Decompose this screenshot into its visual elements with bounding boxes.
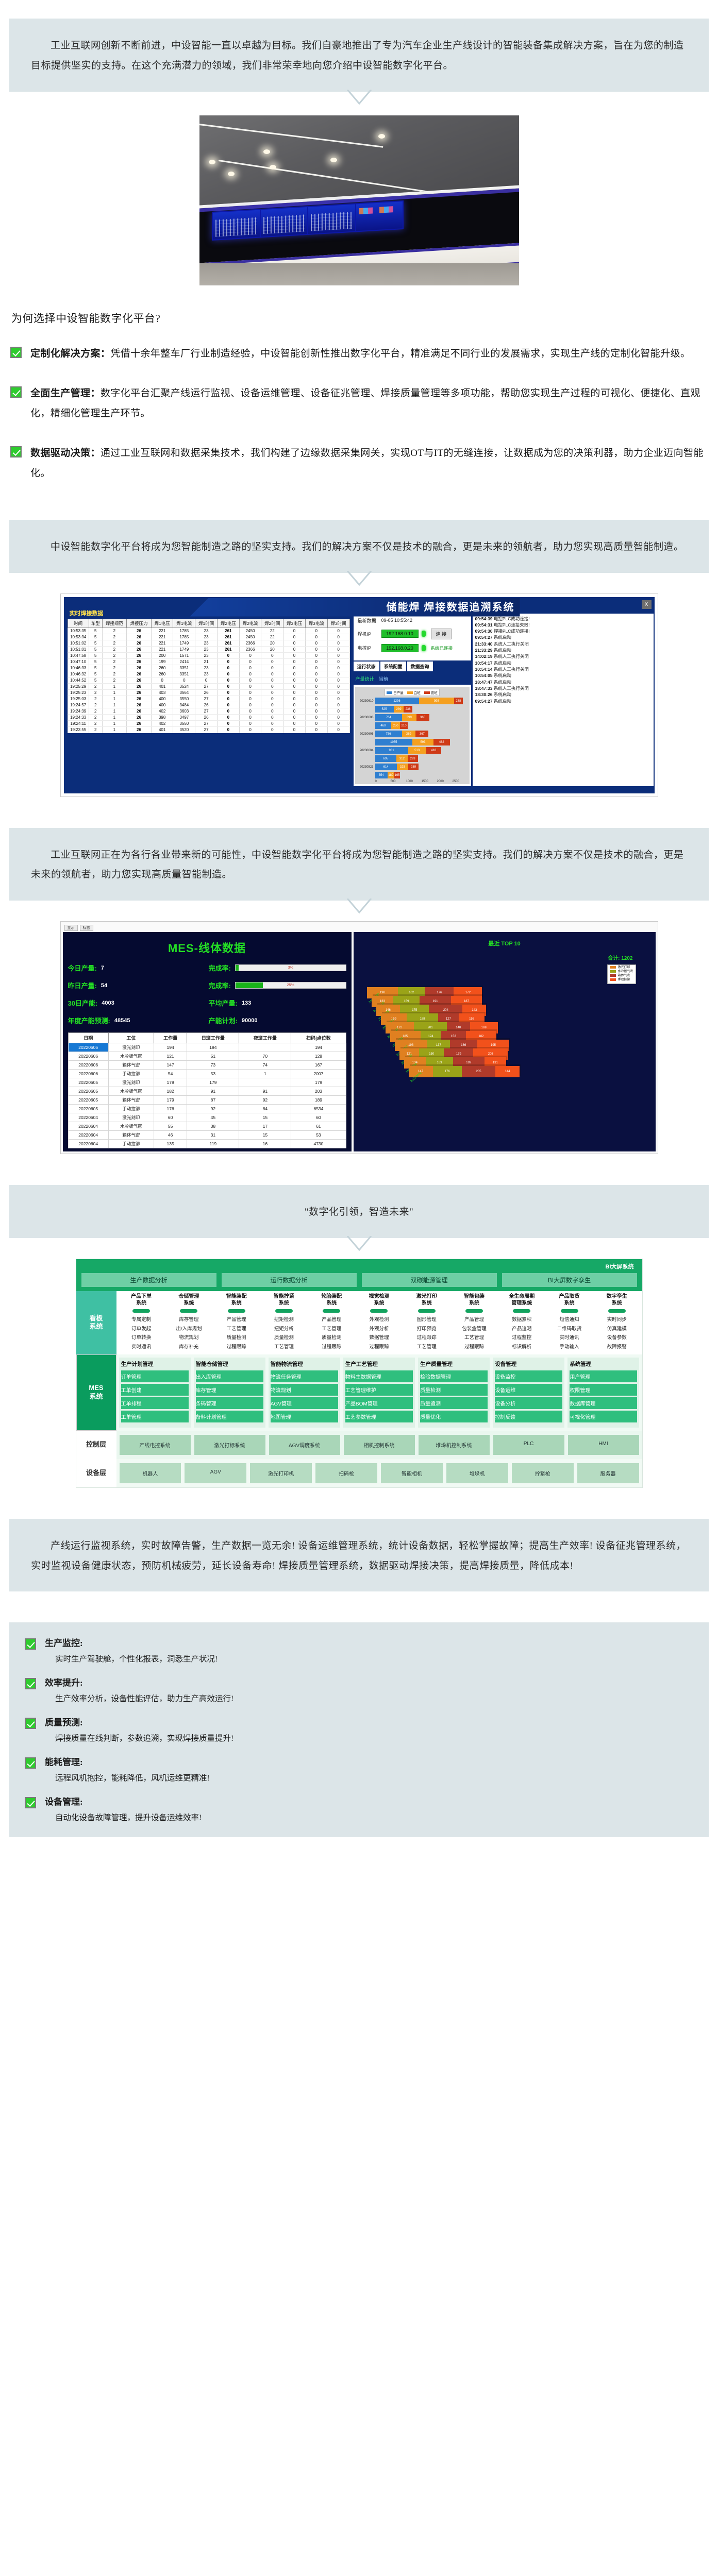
table-cell: 0 bbox=[217, 665, 239, 671]
slogan-block: "数字化引领，智造未来" bbox=[9, 1185, 709, 1238]
table-cell: 3351 bbox=[173, 665, 195, 671]
table-cell: 2366 bbox=[239, 640, 261, 646]
mes-card-item[interactable]: 产品BOM管理 bbox=[345, 1397, 413, 1409]
table-cell: 91 bbox=[187, 1087, 239, 1096]
table-cell: 70 bbox=[239, 1052, 291, 1061]
axis-tick: 0 bbox=[375, 780, 391, 783]
table-row[interactable]: 10:51:025226221174923261236620000 bbox=[68, 640, 349, 646]
bi-chip[interactable]: 双碳能源管理 bbox=[362, 1273, 497, 1287]
table-cell: 0 bbox=[217, 652, 239, 658]
pill-icon bbox=[418, 1309, 436, 1313]
table-row[interactable]: 20220606箱体气密1477374167 bbox=[68, 1061, 346, 1070]
table-cell: 0 bbox=[217, 683, 239, 689]
welding-right-body: 最新数据 09-05 10:55:42 焊机IP 192.168.0.10 连 … bbox=[353, 613, 655, 787]
table-cell: 0 bbox=[327, 671, 349, 677]
bi-chip[interactable]: BI大屏数字孪生 bbox=[502, 1273, 637, 1287]
check-icon bbox=[25, 1797, 36, 1808]
mes-card-item[interactable]: 出入库管理 bbox=[196, 1370, 263, 1382]
column-item: 外观分析 bbox=[356, 1325, 402, 1334]
table-cell: 5 bbox=[89, 634, 102, 640]
kanban-row-label: 看板 系统 bbox=[76, 1291, 116, 1354]
table-cell: 203 bbox=[291, 1087, 346, 1096]
table-row[interactable]: 10:44:525226000000000 bbox=[68, 677, 349, 683]
column-item: 工艺管理 bbox=[404, 1343, 449, 1352]
bar-segment: 365 bbox=[416, 714, 429, 721]
table-cell: 0 bbox=[305, 708, 327, 714]
top10-legend: 激光打印水冷板气密箱体气密手动拉铆 bbox=[607, 964, 636, 984]
table-cell: 2 bbox=[102, 665, 127, 671]
table-cell: 0 bbox=[283, 714, 306, 720]
table-cell: 0 bbox=[327, 665, 349, 671]
table-cell: 119 bbox=[187, 1140, 239, 1148]
device-item[interactable]: 扫码枪 bbox=[315, 1463, 377, 1483]
legend-item: 水冷板气密 bbox=[610, 970, 633, 974]
mes-data-table[interactable]: 日期 工位 工作量 日班工作量 夜班工作量 扫码|点位数 20220606激光刻… bbox=[68, 1032, 346, 1148]
bar-segment: 998 bbox=[419, 698, 455, 704]
table-cell: 260 bbox=[151, 671, 173, 677]
bar-segment: 238 bbox=[454, 698, 462, 704]
device-item[interactable]: AGV bbox=[185, 1463, 246, 1483]
mes-card: 生产计划管理订单管理工单创建工单排程工单管理 bbox=[119, 1358, 191, 1428]
welding-table-body: 10:53:35522622117852326124502200010:53:3… bbox=[68, 628, 349, 733]
legend-item: 箱体气密 bbox=[610, 974, 633, 978]
bi-chip[interactable]: 运行数据分析 bbox=[222, 1273, 357, 1287]
spacer bbox=[0, 1488, 718, 1519]
table-cell: 19:24:39 bbox=[68, 708, 89, 714]
column-title: 智能包装系统 bbox=[451, 1294, 497, 1307]
welder-ip-field[interactable]: 192.168.0.10 bbox=[381, 630, 419, 638]
metric-label: 平均产量: bbox=[209, 998, 238, 1008]
bar-segment: 289 bbox=[408, 764, 419, 770]
log-line: 21:33:29 系统启动 bbox=[475, 647, 651, 653]
table-row[interactable]: 20220604手动拉铆135119164730 bbox=[68, 1140, 346, 1148]
table-cell: 23 bbox=[195, 634, 218, 640]
kanban-column: 产品下单系统专属定制订单发起订单转换实时通讯 bbox=[119, 1294, 164, 1351]
table-cell: 3550 bbox=[173, 720, 195, 726]
display-panel bbox=[261, 207, 308, 236]
page-root: 工业互联网创新不断前进，中设智能一直以卓越为目标。我们自豪地推出了专为汽车企业生… bbox=[0, 0, 718, 1868]
table-cell: 0 bbox=[327, 702, 349, 708]
table-cell: 23 bbox=[195, 640, 218, 646]
table-cell: 74 bbox=[239, 1061, 291, 1070]
spacer bbox=[0, 1591, 718, 1622]
mes-card-title: 生产工艺管理 bbox=[345, 1360, 413, 1368]
table-cell: 179 bbox=[187, 1078, 239, 1087]
table-cell: 0 bbox=[327, 683, 349, 689]
welding-data-table[interactable]: 时间 车型 焊接规范 焊接压力 焊1电压 焊1电流 焊1时间 焊2电压 焊2电流… bbox=[68, 619, 350, 733]
mes-card-item[interactable]: 质量优化 bbox=[420, 1411, 488, 1422]
mes-card-item[interactable]: 数据库管理 bbox=[570, 1397, 637, 1409]
table-cell: 10:46:33 bbox=[68, 665, 89, 671]
table-cell: 19:25:23 bbox=[68, 689, 89, 696]
bullet-text: 数据驱动决策：通过工业互联网和数据采集技术，我们构建了边缘数据采集网关，实现OT… bbox=[30, 444, 708, 484]
table-row[interactable]: 19:24:112126402355027000000 bbox=[68, 720, 349, 726]
table-row[interactable]: 10:46:325226260335123000000 bbox=[68, 671, 349, 677]
table-cell: 2 bbox=[89, 683, 102, 689]
table-cell: 23 bbox=[195, 646, 218, 652]
chart-bar-row: 605312293 bbox=[357, 755, 468, 762]
table-cell: 2007 bbox=[291, 1070, 346, 1078]
table-cell: 2450 bbox=[239, 634, 261, 640]
log-line: 10:54:17 系统启动 bbox=[475, 660, 651, 666]
table-row[interactable]: 20220606水冷板气密1215170128 bbox=[68, 1052, 346, 1061]
table-cell: 5 bbox=[89, 640, 102, 646]
kanban-column: 全生命周期管理系统数据累积产品追溯过程监控标识解析 bbox=[499, 1294, 545, 1351]
table-cell: 27 bbox=[195, 726, 218, 733]
bar-segment: 189 bbox=[388, 772, 394, 778]
table-cell: 3520 bbox=[173, 726, 195, 733]
mes-card-item[interactable]: 设备运维 bbox=[495, 1384, 562, 1396]
mes-row-label: MES 系统 bbox=[76, 1354, 116, 1431]
col-header: 焊接压力 bbox=[127, 619, 152, 628]
table-row[interactable]: 19:25:232126403356426000000 bbox=[68, 689, 349, 696]
table-cell: 1 bbox=[239, 1070, 291, 1078]
feature-desc: 生产效率分析，设备性能评估，助力生产高效运行! bbox=[45, 1692, 233, 1706]
architecture-diagram: BI大屏系统 生产数据分析运行数据分析双碳能源管理BI大屏数字孪生 看板 系统 … bbox=[76, 1259, 643, 1487]
feature-desc: 实时生产驾驶舱，个性化报表，洞悉生产状况! bbox=[45, 1652, 218, 1666]
device-item[interactable]: 堆垛机 bbox=[446, 1463, 508, 1483]
check-icon bbox=[10, 446, 22, 457]
feature-item: 设备管理:自动化设备故障管理，提升设备运维效率! bbox=[25, 1794, 691, 1825]
metric-value: 7 bbox=[101, 965, 104, 971]
table-cell: 0 bbox=[217, 726, 239, 733]
table-cell: 0 bbox=[327, 634, 349, 640]
table-row[interactable]: 10:47:105226199241421000000 bbox=[68, 658, 349, 665]
table-cell: 0 bbox=[283, 720, 306, 726]
check-icon bbox=[25, 1757, 36, 1769]
table-row[interactable]: 20220604激光刻印60451560 bbox=[68, 1113, 346, 1122]
log-line: 09:54:30 焊接PLC成功连接! bbox=[475, 628, 651, 634]
table-cell: 4730 bbox=[291, 1140, 346, 1148]
control-item-row: 产线电控系统激光打标系统AGV调度系统相机控制系统堆垛机控制系统PLCHMI bbox=[116, 1431, 642, 1459]
table-cell: 0 bbox=[305, 720, 327, 726]
mes-card-item[interactable]: 条码管理 bbox=[196, 1397, 263, 1409]
welder-ip-row: 焊机IP 192.168.0.10 连 接 bbox=[358, 629, 467, 639]
metric-value: 90000 bbox=[242, 1018, 258, 1024]
mes-card-item[interactable]: 物流任务管理 bbox=[271, 1370, 338, 1382]
legend-item: 白班 bbox=[407, 690, 421, 695]
table-cell: 27 bbox=[195, 720, 218, 726]
mes-metrics-grid: 今日产量:7完成率:3%昨日产量:54完成率:25%30日产能:4003平均产量… bbox=[68, 963, 346, 1025]
top10-3d-bars: 1901621761722022052713315919118720220528… bbox=[354, 987, 656, 1084]
log-line: 18:30:26 系统启动 bbox=[475, 691, 651, 698]
column-item: 故障报警 bbox=[594, 1343, 640, 1352]
table-cell: 20 bbox=[261, 646, 283, 652]
column-item: 扭矩检测 bbox=[261, 1315, 307, 1325]
table-cell: 1 bbox=[102, 714, 127, 720]
table-row[interactable]: 19:24:332126398349726000000 bbox=[68, 714, 349, 720]
mes-card-item[interactable]: 订单管理 bbox=[121, 1370, 189, 1382]
table-cell: 261 bbox=[217, 634, 239, 640]
mes-left-pane: MES-线体数据 今日产量:7完成率:3%昨日产量:54完成率:25%30日产能… bbox=[63, 932, 352, 1151]
feature-desc: 焊接质量在线判断，参数追溯，实现焊接质量提升! bbox=[45, 1732, 233, 1745]
mes-card-item[interactable]: 物料主数据管理 bbox=[345, 1370, 413, 1382]
plc-ip-row: 电控IP 192.168.0.20 系统已连接 bbox=[358, 644, 467, 652]
table-cell: 179 bbox=[154, 1096, 187, 1105]
table-cell: 10:47:10 bbox=[68, 658, 89, 665]
mes-card-item[interactable]: 设备监控 bbox=[495, 1370, 562, 1382]
column-item: 打印预览 bbox=[404, 1325, 449, 1334]
table-row[interactable]: 10:53:355226221178523261245022000 bbox=[68, 628, 349, 634]
production-bar-chart: 日产量白班夜班 20230610123699823852528923620230… bbox=[355, 687, 470, 784]
column-item: 数据管理 bbox=[356, 1333, 402, 1343]
kanban-column: 轮胎装配系统产品管理工艺管理质量检测过程跟踪 bbox=[309, 1294, 355, 1351]
table-cell: 10:44:52 bbox=[68, 677, 89, 683]
table-row[interactable]: 19:25:032126400355027000000 bbox=[68, 696, 349, 702]
table-row[interactable]: 10:47:585226200157123000000 bbox=[68, 652, 349, 658]
table-cell: 22 bbox=[261, 628, 283, 634]
table-cell: 0 bbox=[261, 665, 283, 671]
mes-card-item[interactable]: 备料计划管理 bbox=[196, 1411, 263, 1422]
device-item[interactable]: 拧紧枪 bbox=[512, 1463, 574, 1483]
bar-category-label: 20230608 bbox=[357, 716, 375, 719]
mes-card-item[interactable]: 质量检测 bbox=[420, 1384, 488, 1396]
table-cell: 1749 bbox=[173, 646, 195, 652]
table-cell: 0 bbox=[195, 677, 218, 683]
table-cell: 0 bbox=[283, 640, 306, 646]
tab-run-status[interactable]: 运行状态 bbox=[354, 662, 379, 671]
bullet-text: 定制化解决方案：凭借十余年整车厂行业制造经验，中设智能创新性推出数字化平台，精准… bbox=[30, 344, 690, 364]
device-item[interactable]: 激光打印机 bbox=[250, 1463, 312, 1483]
bar-category-label: 20230523 bbox=[357, 766, 375, 769]
table-cell: 15 bbox=[239, 1131, 291, 1140]
mes-card-item[interactable]: 库存管理 bbox=[196, 1384, 263, 1396]
table-cell: 0 bbox=[305, 702, 327, 708]
table-cell: 0 bbox=[305, 665, 327, 671]
bar-segment: 593 bbox=[412, 739, 433, 745]
table-cell: 0 bbox=[239, 683, 261, 689]
mes-card-item[interactable]: 控制反馈 bbox=[495, 1411, 562, 1422]
mes-card-item[interactable]: 工单排程 bbox=[121, 1397, 189, 1409]
legend-item: 手动拉铆 bbox=[610, 978, 633, 982]
table-cell: 261 bbox=[217, 628, 239, 634]
column-item: 工艺管理 bbox=[451, 1333, 497, 1343]
log-line: 09:54:31 电控PLC连接失败! bbox=[475, 622, 651, 628]
bar-segment: 931 bbox=[375, 747, 408, 754]
column-item: 短信通知 bbox=[546, 1315, 592, 1325]
table-row[interactable]: 10:53:345226221178523261245022000 bbox=[68, 634, 349, 640]
mes-card-item[interactable]: 工艺参数管理 bbox=[345, 1411, 413, 1422]
table-cell: 200 bbox=[151, 652, 173, 658]
column-title: 轮胎装配系统 bbox=[309, 1294, 355, 1307]
control-row: 控制层 产线电控系统激光打标系统AGV调度系统相机控制系统堆垛机控制系统PLCH… bbox=[76, 1431, 642, 1459]
bar-segment: 399 bbox=[402, 714, 416, 721]
control-item[interactable]: 相机控制系统 bbox=[344, 1435, 415, 1455]
table-cell: 0 bbox=[305, 628, 327, 634]
table-cell: 2 bbox=[89, 702, 102, 708]
why-heading: 为何选择中设智能数字化平台? bbox=[0, 285, 718, 326]
table-cell: 0 bbox=[327, 628, 349, 634]
bar-segment: 354 bbox=[375, 772, 388, 778]
control-item[interactable]: HMI bbox=[568, 1435, 639, 1455]
bar-segment: 605 bbox=[375, 755, 397, 762]
table-cell: 20220606 bbox=[68, 1061, 108, 1070]
iso-bar-segment: 176 bbox=[433, 1066, 462, 1077]
tab-data-query[interactable]: 数据查询 bbox=[407, 662, 433, 671]
table-cell: 23 bbox=[195, 671, 218, 677]
table-cell: 19:24:57 bbox=[68, 702, 89, 708]
mes-card-title: 生产质量管理 bbox=[420, 1360, 488, 1368]
table-cell: 0 bbox=[327, 646, 349, 652]
table-cell: 0 bbox=[239, 665, 261, 671]
mes-card-item[interactable]: 工单创建 bbox=[121, 1384, 189, 1396]
table-row[interactable]: 19:25:292126401352427000000 bbox=[68, 683, 349, 689]
mes-metric: 今日产量:7 bbox=[68, 963, 206, 973]
table-cell: 1785 bbox=[173, 634, 195, 640]
pill-icon bbox=[561, 1309, 578, 1313]
control-item[interactable]: AGV调度系统 bbox=[269, 1435, 340, 1455]
column-title: 全生命周期管理系统 bbox=[499, 1294, 545, 1307]
column-item: 产品管理 bbox=[213, 1315, 259, 1325]
mes-card-item[interactable]: 地图管理 bbox=[271, 1411, 338, 1422]
bi-chip[interactable]: 生产数据分析 bbox=[81, 1273, 216, 1287]
table-cell: 91 bbox=[239, 1087, 291, 1096]
mes-card-item[interactable]: 权限管理 bbox=[570, 1384, 637, 1396]
table-cell: 20220606 bbox=[68, 1070, 108, 1078]
table-row[interactable]: 20220604水冷板气密55381761 bbox=[68, 1122, 346, 1131]
table-row[interactable]: 19:24:392126402360327000000 bbox=[68, 708, 349, 714]
table-cell: 2 bbox=[89, 726, 102, 733]
mes-screenshot-wrap: 显示 标志 MES-线体数据 今日产量:7完成率:3%昨日产量:54完成率:25… bbox=[0, 901, 718, 1154]
mes-body: MES-线体数据 今日产量:7完成率:3%昨日产量:54完成率:25%30日产能… bbox=[63, 932, 656, 1151]
col-header: 日期 bbox=[68, 1033, 108, 1043]
table-cell: 0 bbox=[239, 708, 261, 714]
table-row[interactable]: 20220605激光刻印179179179 bbox=[68, 1078, 346, 1087]
table-row[interactable]: 19:24:572126400348426000000 bbox=[68, 702, 349, 708]
control-item[interactable]: 产线电控系统 bbox=[120, 1435, 191, 1455]
control-item[interactable]: PLC bbox=[493, 1435, 564, 1455]
column-item: 过程监控 bbox=[499, 1333, 545, 1343]
mes-card-item[interactable]: AGV管理 bbox=[271, 1397, 338, 1409]
column-item: 标识解析 bbox=[499, 1343, 545, 1352]
axis-tick: 1500 bbox=[422, 780, 437, 783]
mid-block-2: 工业互联网正在为各行各业带来新的可能性，中设智能数字化平台将成为您智能制造之路的… bbox=[9, 828, 709, 901]
toolbar-button-mark[interactable]: 标志 bbox=[80, 925, 93, 931]
mes-title: MES-线体数据 bbox=[68, 939, 346, 956]
table-cell: 3351 bbox=[173, 671, 195, 677]
table-cell: 0 bbox=[239, 702, 261, 708]
table-cell: 20220604 bbox=[68, 1131, 108, 1140]
mid-paragraph-1: 中设智能数字化平台将成为您智能制造之路的坚实支持。我们的解决方案不仅是技术的融合… bbox=[31, 537, 687, 557]
table-row[interactable]: 20220605箱体气密1798792189 bbox=[68, 1096, 346, 1105]
control-item[interactable]: 激光打标系统 bbox=[194, 1435, 265, 1455]
table-cell: 10:53:34 bbox=[68, 634, 89, 640]
table-cell: 21 bbox=[195, 658, 218, 665]
mes-row: MES 系统 生产计划管理订单管理工单创建工单排程工单管理智能仓储管理出入库管理… bbox=[76, 1354, 642, 1431]
col-header: 焊2电流 bbox=[239, 619, 261, 628]
device-item[interactable]: 智能相机 bbox=[381, 1463, 443, 1483]
mes-card-item[interactable]: 可视化管理 bbox=[570, 1411, 637, 1422]
table-cell: 5 bbox=[89, 658, 102, 665]
table-cell: 2 bbox=[102, 634, 127, 640]
mid-block-1: 中设智能数字化平台将成为您智能制造之路的坚实支持。我们的解决方案不仅是技术的融合… bbox=[9, 520, 709, 573]
table-cell: 221 bbox=[151, 640, 173, 646]
tab-system-config[interactable]: 系统配置 bbox=[380, 662, 406, 671]
kanban-column: 产品取货系统短信通知二维码取货实时通讯手动输入 bbox=[546, 1294, 592, 1351]
mes-card-item[interactable]: 质量追溯 bbox=[420, 1397, 488, 1409]
table-row[interactable]: 20220606激光刻印194194194 bbox=[68, 1043, 346, 1052]
mes-card-item[interactable]: 工单管理 bbox=[121, 1411, 189, 1422]
mid-paragraph-2: 工业互联网正在为各行各业带来新的可能性，中设智能数字化平台将成为您智能制造之路的… bbox=[31, 845, 687, 886]
column-title: 产品取货系统 bbox=[546, 1294, 592, 1307]
latest-data-value: 09-05 10:55:42 bbox=[381, 618, 413, 623]
summary-paragraph: 产线运行监视系统，实时故障告警，生产数据一览无余! 设备运维管理系统，统计设备数… bbox=[31, 1536, 687, 1577]
connect-button[interactable]: 连 接 bbox=[431, 629, 452, 639]
toolbar-button-display[interactable]: 显示 bbox=[64, 925, 78, 931]
table-cell: 0 bbox=[261, 696, 283, 702]
table-row[interactable]: 10:46:335226260335123000000 bbox=[68, 665, 349, 671]
iso-bar-segment: 205 bbox=[462, 1066, 496, 1077]
table-header-row: 时间 车型 焊接规范 焊接压力 焊1电压 焊1电流 焊1时间 焊2电压 焊2电流… bbox=[68, 619, 349, 628]
col-header: 焊3时间 bbox=[327, 619, 349, 628]
table-cell: 0 bbox=[239, 658, 261, 665]
mes-label-line1: MES bbox=[89, 1384, 103, 1393]
table-cell: 2366 bbox=[239, 646, 261, 652]
table-cell: 5 bbox=[89, 671, 102, 677]
metric-label: 产能计划: bbox=[209, 1015, 238, 1025]
table-cell: 2 bbox=[102, 671, 127, 677]
close-icon[interactable]: X bbox=[642, 600, 652, 609]
welding-status-column: 最新数据 09-05 10:55:42 焊机IP 192.168.0.10 连 … bbox=[354, 614, 471, 786]
mes-card-item[interactable]: 检验数据管理 bbox=[420, 1370, 488, 1382]
table-cell: 167 bbox=[291, 1061, 346, 1070]
mes-label-line2: 系统 bbox=[89, 1393, 103, 1401]
table-cell: 23 bbox=[195, 652, 218, 658]
table-cell: 3497 bbox=[173, 714, 195, 720]
table-cell: 2 bbox=[102, 677, 127, 683]
table-cell: 手动拉铆 bbox=[108, 1140, 154, 1148]
table-cell: 激光刻印 bbox=[108, 1113, 154, 1122]
mes-card-title: 设备管理 bbox=[495, 1360, 562, 1368]
table-row[interactable]: 20220606手动拉铆545312007 bbox=[68, 1070, 346, 1078]
table-cell: 10:51:02 bbox=[68, 640, 89, 646]
plc-ip-field[interactable]: 192.168.0.20 bbox=[381, 644, 419, 652]
table-cell: 179 bbox=[154, 1078, 187, 1087]
bar-segment: 293 bbox=[408, 755, 418, 762]
table-cell: 121 bbox=[154, 1052, 187, 1061]
mes-card-item[interactable]: 用户管理 bbox=[570, 1370, 637, 1382]
mes-card-item[interactable]: 物流规划 bbox=[271, 1384, 338, 1396]
table-cell: 0 bbox=[261, 652, 283, 658]
device-item[interactable]: 机器人 bbox=[120, 1463, 181, 1483]
device-item[interactable]: 服务器 bbox=[577, 1463, 639, 1483]
feature-text: 能耗管理:远程风机抱控，能耗降低，风机运维更精准! bbox=[45, 1755, 210, 1785]
table-cell: 0 bbox=[239, 689, 261, 696]
mes-metric: 完成率:3% bbox=[209, 963, 346, 973]
mes-card-item[interactable]: 设备分析 bbox=[495, 1397, 562, 1409]
table-row[interactable]: 20220605水冷板气密1829191203 bbox=[68, 1087, 346, 1096]
mes-card-item[interactable]: 工艺管理维护 bbox=[345, 1384, 413, 1396]
check-icon bbox=[25, 1638, 36, 1650]
table-row[interactable]: 20220604箱体气密46311553 bbox=[68, 1131, 346, 1140]
kanban-column: 视觉检测系统外观检测外观分析数据管理过程跟踪 bbox=[356, 1294, 402, 1351]
feature-text: 效率提升:生产效率分析，设备性能评估，助力生产高效运行! bbox=[45, 1675, 233, 1706]
table-cell: 401 bbox=[151, 726, 173, 733]
system-log-panel[interactable]: 09:54:39 电控PLC成功连接!09:54:31 电控PLC连接失败!09… bbox=[473, 614, 654, 786]
table-row[interactable]: 20220605手动拉铆17692846534 bbox=[68, 1105, 346, 1113]
control-item[interactable]: 堆垛机控制系统 bbox=[419, 1435, 490, 1455]
table-row[interactable]: 10:51:015226221174923261236620000 bbox=[68, 646, 349, 652]
total-label: 合计: bbox=[608, 956, 620, 961]
table-cell: 0 bbox=[151, 677, 173, 683]
showroom-photo bbox=[199, 115, 519, 285]
table-row[interactable]: 19:23:552126401352027000000 bbox=[68, 726, 349, 733]
bar-segment: 525 bbox=[375, 706, 394, 713]
top10-chart-title: 最近 TOP 10 bbox=[354, 932, 656, 947]
table-cell: 60 bbox=[154, 1113, 187, 1122]
photo-floor bbox=[199, 263, 519, 285]
ceiling-spotlight bbox=[263, 149, 270, 154]
